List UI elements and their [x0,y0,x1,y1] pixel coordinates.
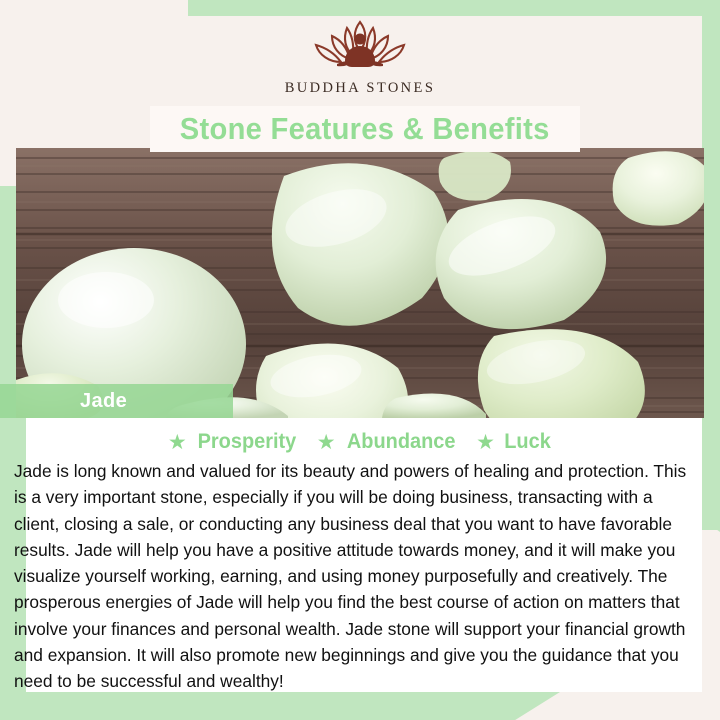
brand-name: BUDDHA STONES [285,80,436,97]
brand-header: BUDDHA STONES [0,0,720,108]
stone-name-label: Jade [80,390,127,413]
benefit-item-abundance: ★ Abundance [317,430,458,454]
accent-band-bottom [0,692,560,720]
benefits-row: ★ Prosperity ★ Abundance ★ Luck [16,424,704,460]
page-title: Stone Features & Benefits [180,111,550,147]
benefit-item-prosperity: ★ Prosperity [168,430,299,454]
stone-features-card: BUDDHA STONES Stone Features & Benefits [0,0,720,720]
star-icon: ★ [168,432,188,452]
benefit-label: Prosperity [197,430,296,454]
title-banner: Stone Features & Benefits [150,106,580,152]
star-icon: ★ [476,432,496,452]
benefit-item-luck: ★ Luck [476,430,552,454]
stone-photo [16,148,704,418]
lotus-meditation-icon [301,14,419,76]
stone-description: Jade is long known and valued for its be… [14,458,698,695]
stone-name-bar: Jade [0,384,233,418]
benefit-label: Abundance [347,430,456,454]
star-icon: ★ [317,432,337,452]
benefit-label: Luck [504,430,551,454]
